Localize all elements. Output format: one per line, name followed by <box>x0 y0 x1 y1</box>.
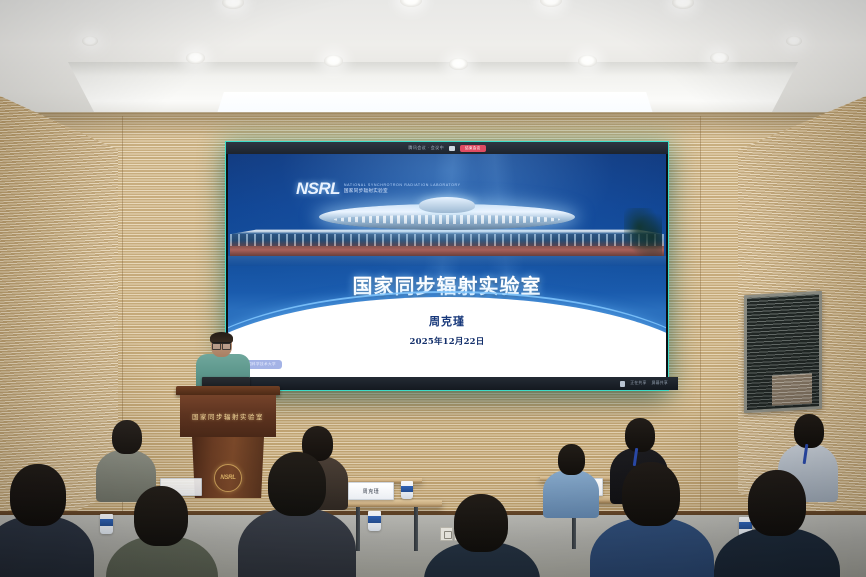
building-trees <box>624 208 662 256</box>
audience-person <box>714 470 840 577</box>
nsrl-building-photo <box>228 204 666 266</box>
lecture-hall-photo: 腾讯会议 · 会议中 结束会议 NSRL NATIONAL SYNCHROTRO… <box>0 0 866 577</box>
nsrl-logo: NSRL NATIONAL SYNCHROTRON RADIATION LABO… <box>296 180 461 197</box>
ceiling-downlight <box>186 52 205 64</box>
ceiling-downlight <box>449 58 468 70</box>
nsrl-logo-subtitle: NATIONAL SYNCHROTRON RADIATION LABORATOR… <box>344 183 461 197</box>
participants-icon[interactable] <box>620 381 625 387</box>
podium-front-panel: 国家同步辐射实验室 <box>180 395 276 437</box>
person-head <box>134 486 188 546</box>
person-head <box>454 494 508 552</box>
presentation-date: 2025年12月22日 <box>228 335 666 347</box>
person-head <box>10 464 66 526</box>
person-head <box>748 470 806 536</box>
glasses-icon <box>212 342 231 348</box>
presenter-name: 周克瑾 <box>228 313 666 329</box>
audience-person <box>424 494 540 577</box>
person-head <box>558 444 585 475</box>
ceiling-downlight <box>578 55 597 67</box>
audience-person <box>0 464 94 577</box>
person-head <box>625 418 655 452</box>
wall-top-shadow <box>0 112 866 138</box>
led-display-screen[interactable]: 腾讯会议 · 会议中 结束会议 NSRL NATIONAL SYNCHROTRO… <box>226 142 668 390</box>
table-leg <box>414 507 418 551</box>
nsrl-wordmark: NSRL <box>296 180 340 197</box>
window-with-blinds <box>744 291 822 413</box>
person-head <box>622 462 680 526</box>
audience-person <box>106 486 218 577</box>
table-leg <box>356 507 360 551</box>
podium-top-surface <box>176 386 280 395</box>
audience-person <box>590 462 714 577</box>
building-ground <box>228 256 666 266</box>
nsrl-logo-en: NATIONAL SYNCHROTRON RADIATION LABORATOR… <box>344 183 461 187</box>
meeting-toolbar-bottom[interactable]: 正在共享 屏幕共享 <box>226 377 678 390</box>
meeting-toolbar-top[interactable]: 腾讯会议 · 会议中 结束会议 <box>226 142 668 154</box>
audience-person <box>238 452 356 577</box>
screen-share-icon[interactable] <box>449 146 455 151</box>
nameplate-text: 周克瑾 <box>363 488 380 495</box>
meeting-label: 腾讯会议 · 会议中 <box>408 145 444 151</box>
ceiling-downlight <box>786 36 802 46</box>
ceiling-downlight <box>710 52 729 64</box>
window-blind-gap <box>772 373 812 405</box>
paper-cup <box>368 511 381 531</box>
podium-emblem-text: NSRL <box>220 475 235 481</box>
ceiling-downlight <box>324 55 343 67</box>
person-head <box>268 452 326 516</box>
person-head <box>794 414 824 448</box>
building-window-band <box>230 234 664 246</box>
ceiling-downlight <box>82 36 98 46</box>
person-head <box>112 420 142 454</box>
person-torso <box>590 518 714 577</box>
share-status-left: 正在共享 <box>630 381 646 386</box>
presentation-slide: NSRL NATIONAL SYNCHROTRON RADIATION LABO… <box>228 154 666 377</box>
podium-banner-text: 国家同步辐射实验室 <box>192 412 264 421</box>
nsrl-logo-cn: 国家同步辐射实验室 <box>344 188 461 195</box>
building-dome <box>419 197 475 213</box>
paper-cup <box>401 481 413 499</box>
end-meeting-button[interactable]: 结束会议 <box>460 145 486 152</box>
person-torso <box>238 508 356 577</box>
share-status-right: 屏幕共享 <box>652 381 668 386</box>
